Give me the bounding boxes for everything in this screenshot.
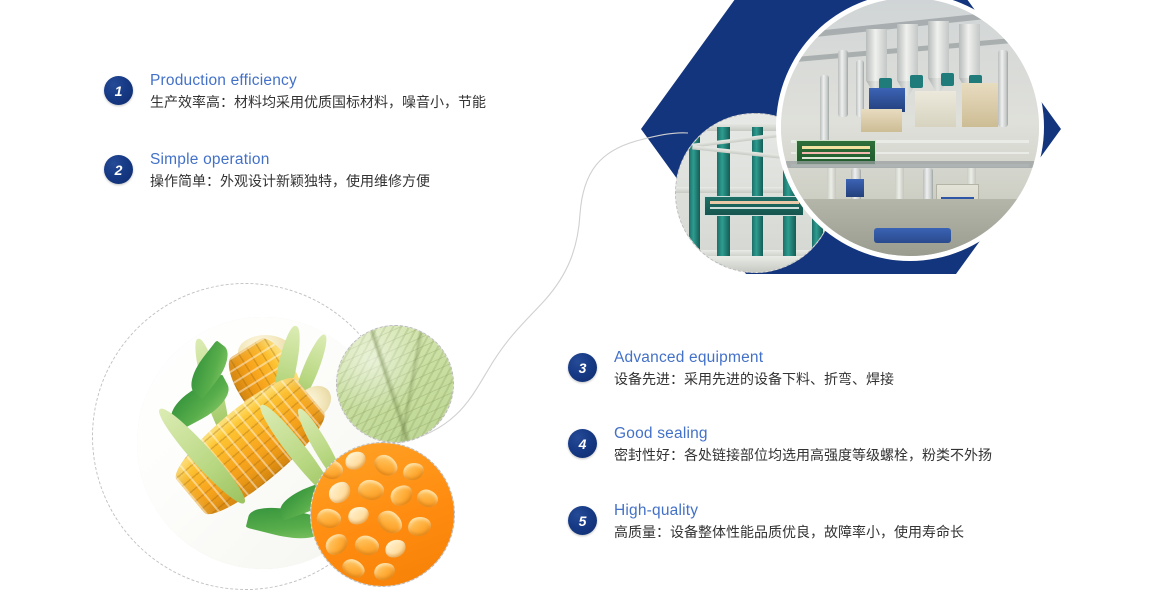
corn-kernels-art (311, 443, 454, 586)
feature-item-1[interactable]: 1 Production efficiency 生产效率高：材料均采用优质国标材… (104, 76, 486, 113)
feature-title-4: Good sealing (614, 424, 992, 444)
feature-desc-1: 生产效率高：材料均采用优质国标材料，噪音小，节能 (150, 91, 486, 113)
feature-text-4: Good sealing 密封性好：各处链接部位均选用高强度等级螺栓，粉类不外扬 (614, 424, 992, 466)
feature-desc-3: 设备先进：采用先进的设备下料、折弯、焊接 (614, 368, 894, 390)
factory-main-photo (781, 0, 1039, 256)
feature-badge-4: 4 (568, 429, 597, 458)
feature-item-5[interactable]: 5 High-quality 高质量：设备整体性能品质优良，故障率小，使用寿命长 (568, 506, 964, 543)
feature-item-2[interactable]: 2 Simple operation 操作简单：外观设计新颖独特，使用维修方便 (104, 155, 430, 192)
corn-paste-art (337, 326, 453, 442)
corn-paste-photo (336, 325, 454, 443)
feature-title-1: Production efficiency (150, 71, 486, 91)
factory-main-art (781, 0, 1039, 256)
feature-desc-2: 操作简单：外观设计新颖独特，使用维修方便 (150, 170, 430, 192)
feature-badge-1: 1 (104, 76, 133, 105)
feature-badge-5: 5 (568, 506, 597, 535)
feature-desc-5: 高质量：设备整体性能品质优良，故障率小，使用寿命长 (614, 521, 964, 543)
feature-item-4[interactable]: 4 Good sealing 密封性好：各处链接部位均选用高强度等级螺栓，粉类不… (568, 429, 992, 466)
feature-badge-2: 2 (104, 155, 133, 184)
feature-text-3: Advanced equipment 设备先进：采用先进的设备下料、折弯、焊接 (614, 348, 894, 390)
feature-title-3: Advanced equipment (614, 348, 894, 368)
feature-item-3[interactable]: 3 Advanced equipment 设备先进：采用先进的设备下料、折弯、焊… (568, 353, 894, 390)
feature-text-1: Production efficiency 生产效率高：材料均采用优质国标材料，… (150, 71, 486, 113)
page-canvas: 1 Production efficiency 生产效率高：材料均采用优质国标材… (0, 0, 1154, 591)
feature-title-5: High-quality (614, 501, 964, 521)
corn-kernels-photo (310, 442, 455, 587)
feature-text-2: Simple operation 操作简单：外观设计新颖独特，使用维修方便 (150, 150, 430, 192)
feature-desc-4: 密封性好：各处链接部位均选用高强度等级螺栓，粉类不外扬 (614, 444, 992, 466)
feature-text-5: High-quality 高质量：设备整体性能品质优良，故障率小，使用寿命长 (614, 501, 964, 543)
feature-title-2: Simple operation (150, 150, 430, 170)
feature-badge-3: 3 (568, 353, 597, 382)
